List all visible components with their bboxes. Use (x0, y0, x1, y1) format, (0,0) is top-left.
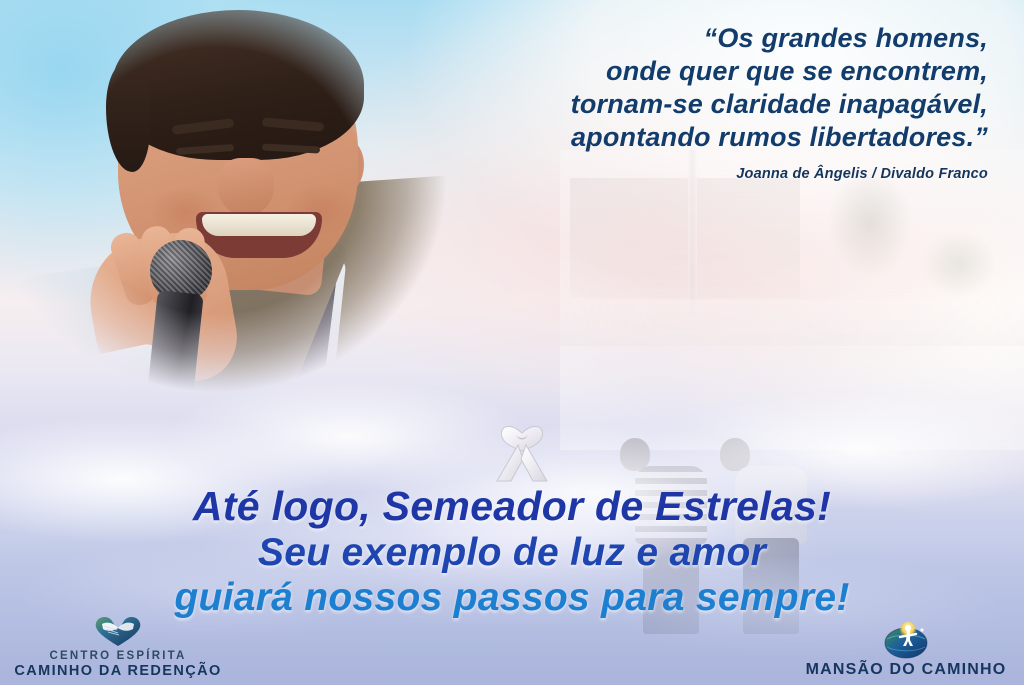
headline-block: Até logo, Semeador de Estrelas! Seu exem… (0, 486, 1024, 617)
heart-hands-icon (8, 613, 228, 649)
quote-line-3: tornam-se claridade inapagável, (428, 88, 988, 121)
background-building (570, 178, 800, 298)
logo-left-line-2: CAMINHO DA REDENÇÃO (8, 663, 228, 679)
logo-left-line-1: CENTRO ESPÍRITA (8, 650, 228, 662)
portrait-divaldo-franco (0, 0, 470, 430)
logo-centro-espirita: CENTRO ESPÍRITA CAMINHO DA REDENÇÃO (8, 613, 228, 679)
headline-line-3: guiará nossos passos para sempre! (0, 578, 1024, 617)
portrait-mask (0, 0, 470, 430)
quote-line-1: “Os grandes homens, (428, 22, 988, 55)
headline-line-1: Até logo, Semeador de Estrelas! (0, 486, 1024, 527)
logo-right-line-1: MANSÃO DO CAMINHO (796, 661, 1016, 679)
headline-line-2: Seu exemplo de luz e amor (0, 533, 1024, 572)
portrait-nose (218, 158, 274, 216)
logo-mansao-do-caminho: MANSÃO DO CAMINHO (796, 622, 1016, 679)
background-photo-two-people-walking (560, 150, 1024, 450)
background-wall (560, 300, 1024, 346)
mourning-ribbon-icon (489, 411, 555, 489)
quote-line-4: apontando rumos libertadores.” (428, 121, 988, 154)
quote-line-2: onde quer que se encontrem, (428, 55, 988, 88)
quote-author: Joanna de Ângelis / Divaldo Franco (428, 166, 988, 182)
portrait-teeth (202, 214, 316, 236)
portrait-hair (112, 10, 364, 160)
globe-figure-icon (796, 622, 1016, 658)
memorial-poster: “Os grandes homens, onde quer que se enc… (0, 0, 1024, 685)
quote-block: “Os grandes homens, onde quer que se enc… (428, 22, 988, 182)
